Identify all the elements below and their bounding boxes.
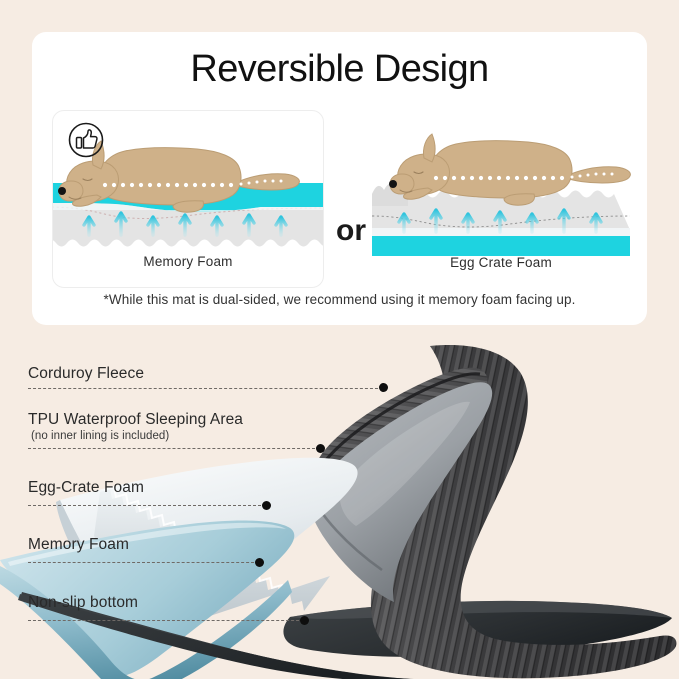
infographic-root: Reversible Design: [0, 0, 679, 679]
separator-or: or: [328, 214, 374, 248]
page-title: Reversible Design: [32, 48, 647, 91]
layer-breakdown-section: Corduroy Fleece TPU Waterproof Sleeping …: [0, 340, 679, 679]
leader-line-egg-crate-foam: [28, 505, 266, 507]
annotation-label: Corduroy Fleece: [28, 364, 144, 383]
annotation-label: TPU Waterproof Sleeping Area: [28, 410, 243, 429]
leader-line-tpu-sleeping-area: [28, 448, 320, 450]
annotation-corduroy-fleece: Corduroy Fleece: [28, 364, 144, 383]
annotation-memory-foam: Memory Foam: [28, 535, 129, 554]
annotation-non-slip-bottom: Non-slip bottom: [28, 593, 138, 612]
annotation-tpu-sleeping-area: TPU Waterproof Sleeping Area (no inner l…: [28, 410, 243, 442]
leader-line-non-slip-bottom: [28, 620, 304, 622]
panel-egg-crate-foam[interactable]: Egg Crate Foam: [370, 110, 632, 288]
annotation-label: Memory Foam: [28, 535, 129, 554]
panel-caption-memory-foam: Memory Foam: [53, 254, 323, 269]
annotation-egg-crate-foam: Egg-Crate Foam: [28, 478, 144, 497]
annotation-label: Egg-Crate Foam: [28, 478, 144, 497]
comparison-panels: Memory Foam or: [32, 110, 647, 290]
footnote-text: *While this mat is dual-sided, we recomm…: [32, 292, 647, 307]
annotation-group: Corduroy Fleece TPU Waterproof Sleeping …: [0, 340, 679, 679]
leader-dot-tpu-sleeping-area: [316, 444, 325, 453]
thumbs-up-icon: [67, 121, 105, 159]
leader-dot-egg-crate-foam: [262, 501, 271, 510]
panel-memory-foam[interactable]: Memory Foam: [52, 110, 324, 288]
panel-caption-egg-crate-foam: Egg Crate Foam: [370, 255, 632, 270]
leader-line-memory-foam: [28, 562, 259, 564]
leader-dot-non-slip-bottom: [300, 616, 309, 625]
leader-dot-corduroy-fleece: [379, 383, 388, 392]
leader-dot-memory-foam: [255, 558, 264, 567]
annotation-sublabel: (no inner lining is included): [28, 430, 243, 442]
reversible-design-card: Reversible Design: [32, 32, 647, 325]
annotation-label: Non-slip bottom: [28, 593, 138, 612]
leader-line-corduroy-fleece: [28, 388, 383, 390]
